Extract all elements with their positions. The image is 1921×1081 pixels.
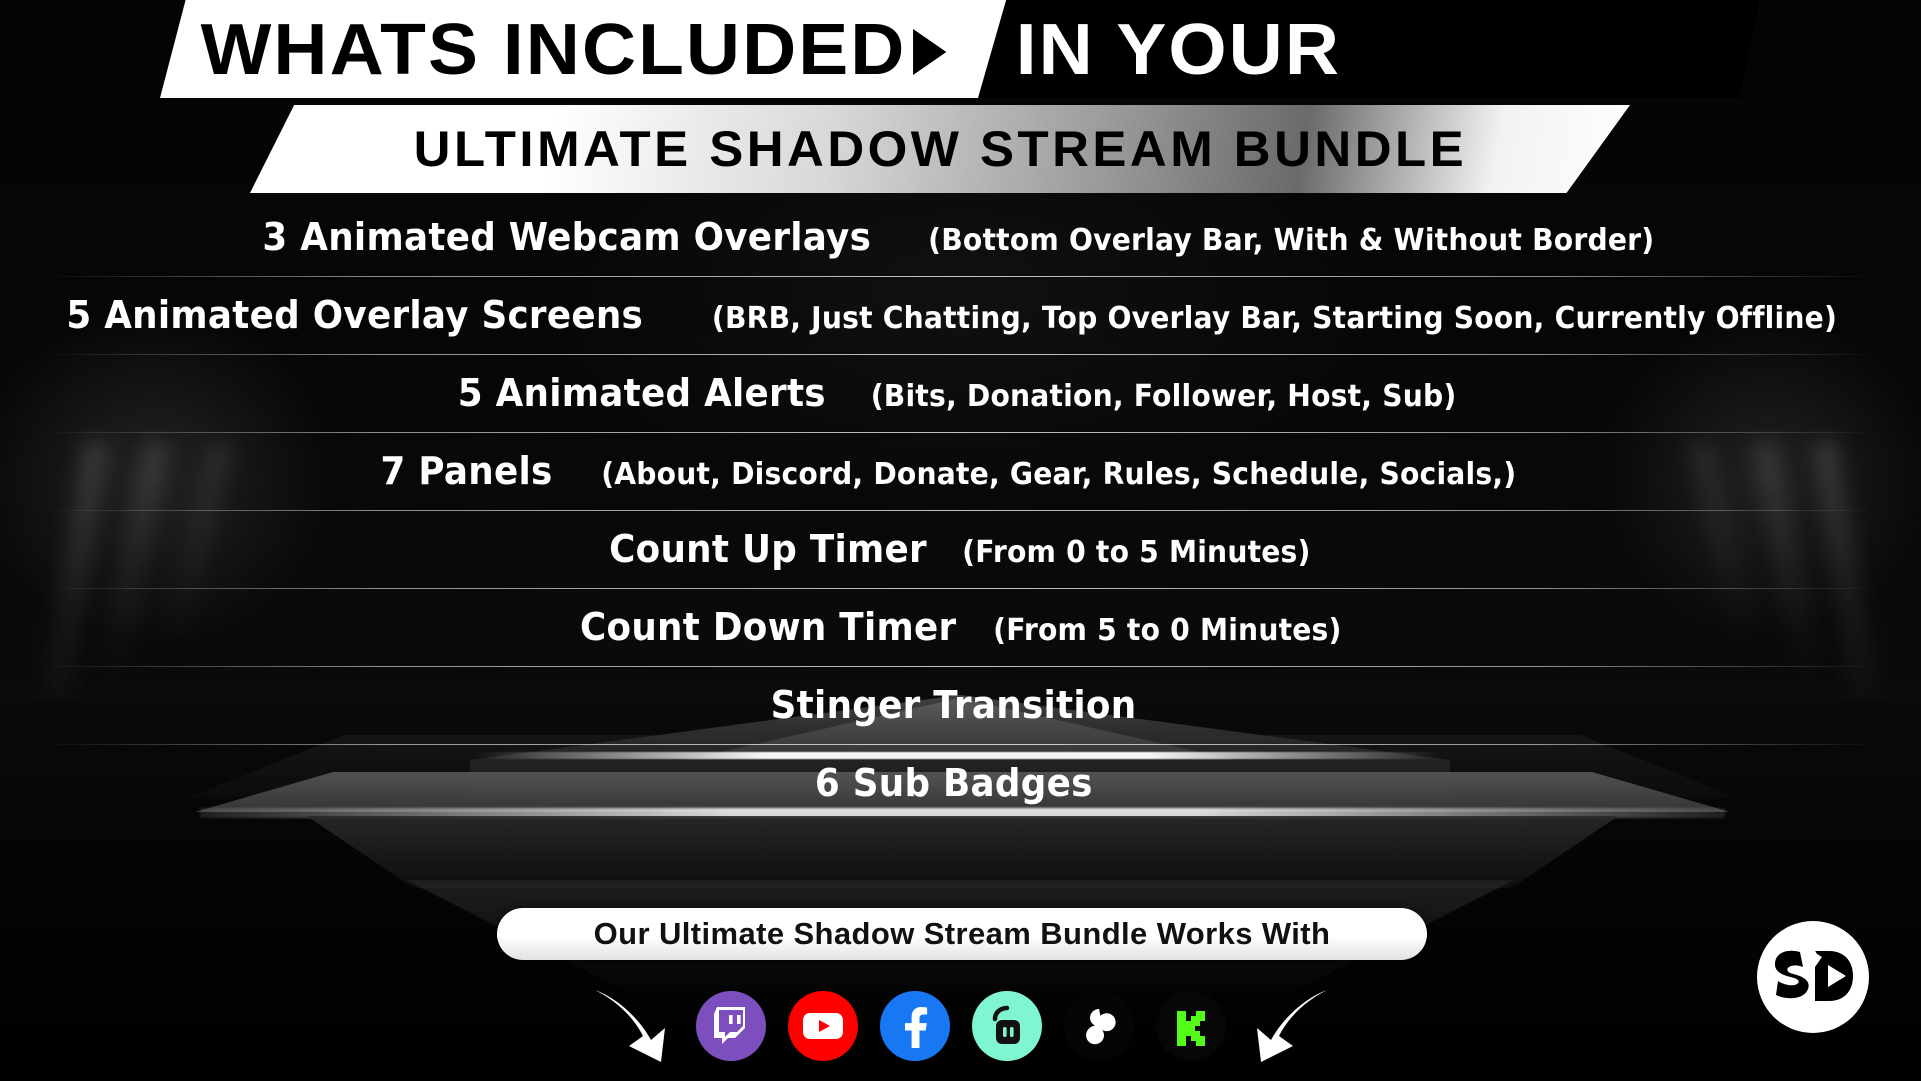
arrow-right-down-icon (588, 986, 674, 1066)
list-item: 5 Animated Overlay Screens (BRB, Just Ch… (0, 276, 1921, 354)
kick-icon[interactable] (1156, 991, 1226, 1061)
play-triangle-icon (913, 29, 946, 75)
feature-detail: (BRB, Just Chatting, Top Overlay Bar, St… (712, 301, 1837, 336)
list-item: Stinger Transition (0, 666, 1921, 744)
list-item: 5 Animated Alerts (Bits, Donation, Follo… (0, 354, 1921, 432)
feature-detail: (About, Discord, Donate, Gear, Rules, Sc… (601, 457, 1516, 492)
list-item: 3 Animated Webcam Overlays (Bottom Overl… (0, 198, 1921, 276)
feature-title: 5 Animated Alerts (458, 371, 826, 415)
list-item: Count Up Timer (From 0 to 5 Minutes) (0, 510, 1921, 588)
streamlabs-icon[interactable] (972, 991, 1042, 1061)
header-title-part1: WHATS INCLUDED (201, 14, 946, 86)
feature-title: 5 Animated Overlay Screens (67, 293, 644, 337)
facebook-icon[interactable] (880, 991, 950, 1061)
feature-detail: (From 0 to 5 Minutes) (962, 535, 1310, 570)
works-with-label: Our Ultimate Shadow Stream Bundle Works … (594, 916, 1331, 952)
platform-icon-row (0, 978, 1921, 1074)
header-title-row: WHATS INCLUDED IN YOUR (0, 0, 1921, 98)
feature-detail: (From 5 to 0 Minutes) (993, 613, 1341, 648)
feature-title: 7 Panels (381, 449, 553, 493)
feature-detail: (Bottom Overlay Bar, With & Without Bord… (928, 223, 1654, 258)
arrow-left-down-icon (1248, 986, 1334, 1066)
feature-list: 3 Animated Webcam Overlays (Bottom Overl… (0, 198, 1921, 822)
list-item: 6 Sub Badges (0, 744, 1921, 822)
youtube-icon[interactable] (788, 991, 858, 1061)
bundle-title: ULTIMATE SHADOW STREAM BUNDLE (413, 120, 1466, 178)
twitch-icon[interactable] (696, 991, 766, 1061)
feature-title: 3 Animated Webcam Overlays (263, 215, 872, 259)
feature-title: Stinger Transition (771, 683, 1137, 727)
podium-slab-lower (200, 816, 1725, 888)
feature-title: 6 Sub Badges (815, 761, 1093, 805)
list-item: Count Down Timer (From 5 to 0 Minutes) (0, 588, 1921, 666)
subtitle-row: ULTIMATE SHADOW STREAM BUNDLE (250, 105, 1630, 193)
header-title-part2: IN YOUR (1016, 14, 1341, 86)
feature-title: Count Up Timer (609, 527, 927, 571)
brand-logo (1757, 921, 1869, 1033)
list-item: 7 Panels (About, Discord, Donate, Gear, … (0, 432, 1921, 510)
feature-title: Count Down Timer (580, 605, 956, 649)
feature-detail: (Bits, Donation, Follower, Host, Sub) (870, 379, 1456, 414)
obs-icon[interactable] (1064, 991, 1134, 1061)
works-with-banner: Our Ultimate Shadow Stream Bundle Works … (497, 908, 1427, 960)
sd-logo-icon (1770, 947, 1856, 1007)
